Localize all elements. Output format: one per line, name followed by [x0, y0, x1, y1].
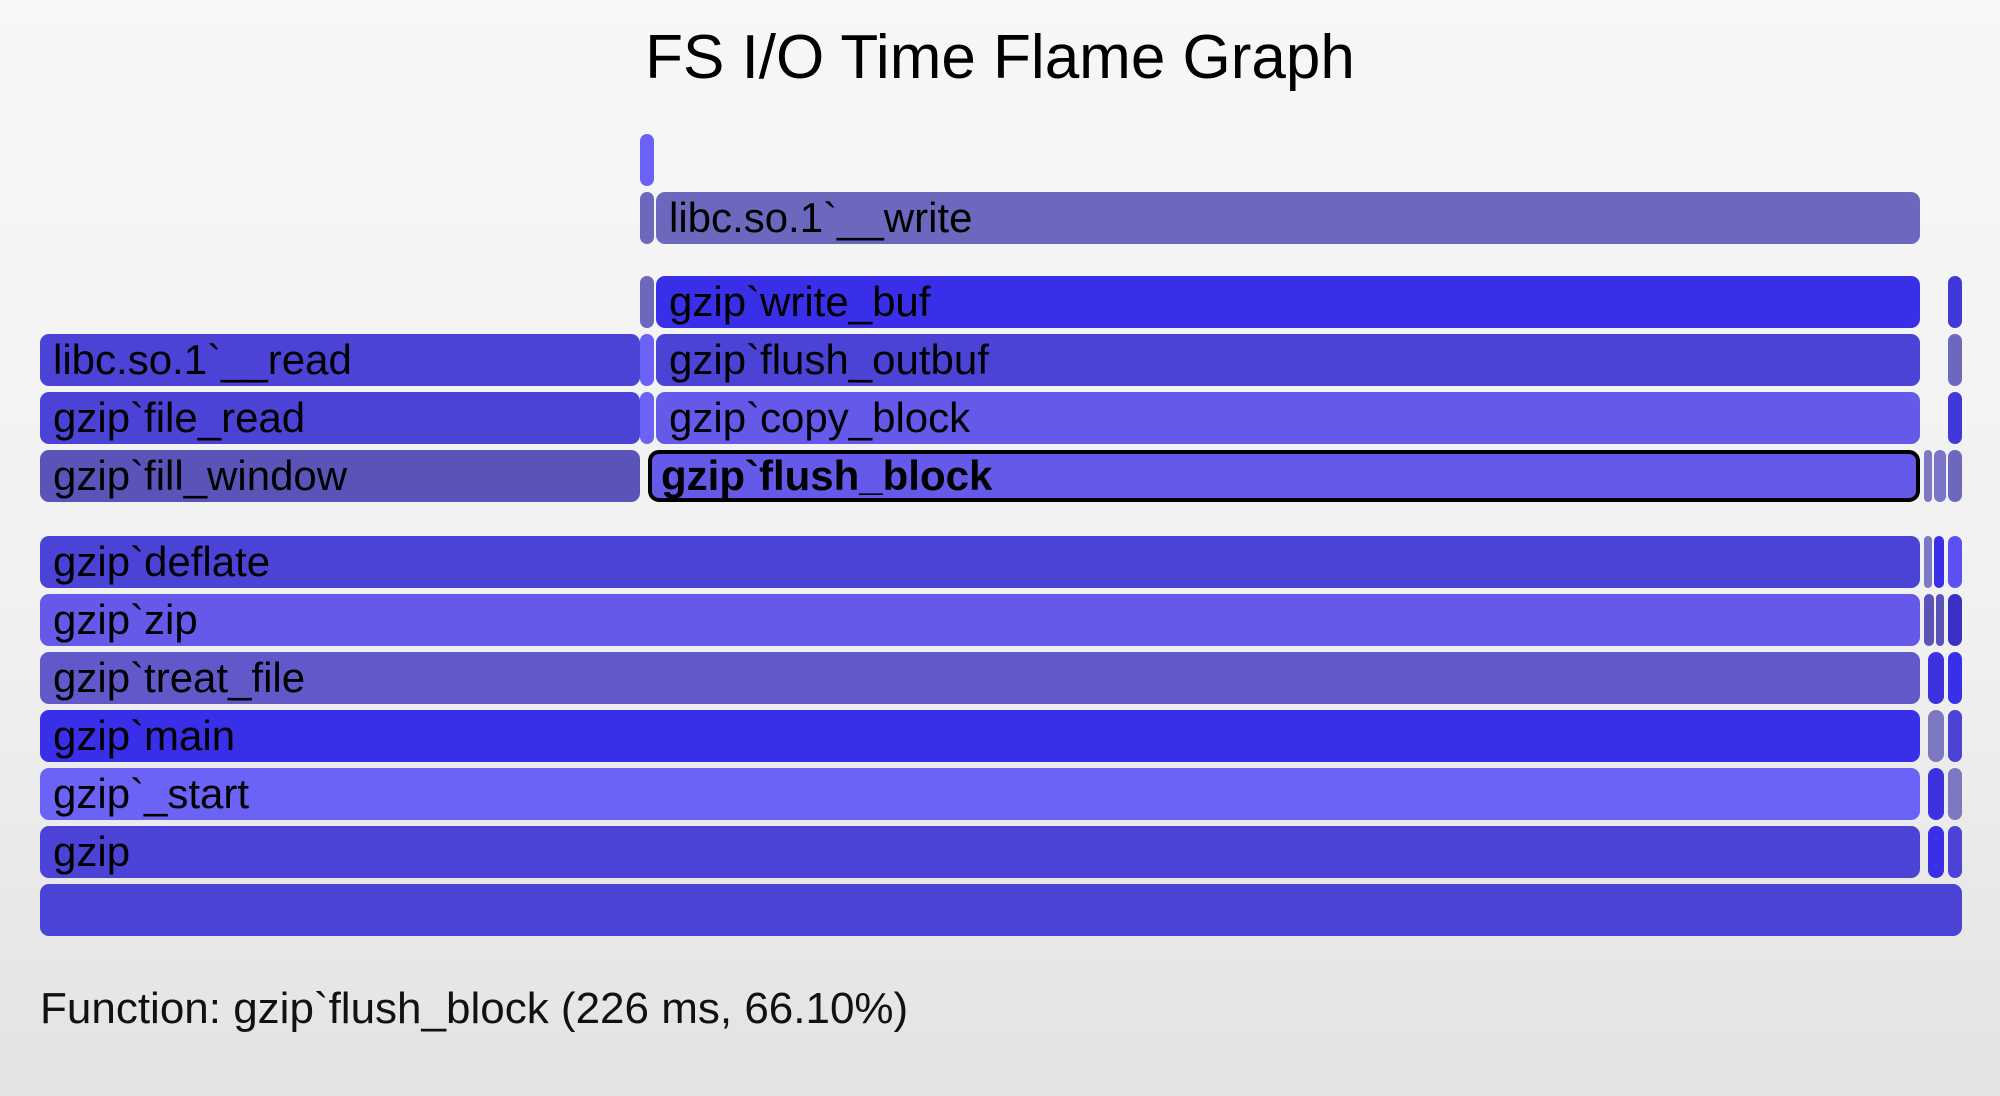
- flame-frame-label: gzip`_start: [40, 772, 249, 816]
- flame-frame-gzip-file-read[interactable]: gzip`file_read: [40, 392, 640, 444]
- flame-frame-gzip-flush-outbuf[interactable]: gzip`flush_outbuf: [656, 334, 1920, 386]
- flame-frame-narrow-18[interactable]: [1924, 536, 1932, 588]
- flame-frame-label: gzip`flush_block: [652, 454, 992, 498]
- flame-frame-label: gzip: [40, 830, 130, 874]
- flame-frame-gzip[interactable]: gzip: [40, 826, 1920, 878]
- flame-graph-canvas[interactable]: gzipgzip`_startgzip`maingzip`treat_fileg…: [0, 0, 2000, 960]
- flame-frame-label: gzip`main: [40, 714, 235, 758]
- flame-frame-label: gzip`flush_outbuf: [656, 338, 989, 382]
- flame-frame-gzip-copy-block[interactable]: gzip`copy_block: [656, 392, 1920, 444]
- flame-frame-gzip-start[interactable]: gzip`_start: [40, 768, 1920, 820]
- flame-frame-narrow-31[interactable]: [640, 334, 654, 386]
- flame-frame-narrow-20[interactable]: [1948, 536, 1962, 588]
- flame-frame-narrow-8[interactable]: [1928, 710, 1944, 762]
- flame-frame-label: gzip`fill_window: [40, 454, 347, 498]
- flame-frame-narrow-0[interactable]: [40, 884, 1962, 936]
- flame-frame-narrow-36[interactable]: [1948, 276, 1962, 328]
- flame-frame-gzip-treat-file[interactable]: gzip`treat_file: [40, 652, 1920, 704]
- flame-frame-label: gzip`write_buf: [656, 280, 930, 324]
- flame-graph-page: FS I/O Time Flame Graph gzipgzip`_startg…: [0, 0, 2000, 1096]
- flame-frame-narrow-12[interactable]: [1948, 652, 1962, 704]
- flame-frame-narrow-33[interactable]: [1948, 334, 1962, 386]
- flame-frame-label: gzip`treat_file: [40, 656, 305, 700]
- flame-frame-narrow-14[interactable]: [1924, 594, 1934, 646]
- flame-frame-label: libc.so.1`__read: [40, 338, 352, 382]
- flame-frame-libc-so-1-write[interactable]: libc.so.1`__write: [656, 192, 1920, 244]
- flame-frame-narrow-6[interactable]: [1948, 768, 1962, 820]
- flame-frame-libc-so-1-read[interactable]: libc.so.1`__read: [40, 334, 640, 386]
- status-bar-function-info: Function: gzip`flush_block (226 ms, 66.1…: [40, 984, 908, 1034]
- flame-frame-narrow-16[interactable]: [1948, 594, 1962, 646]
- flame-frame-label: libc.so.1`__write: [656, 196, 972, 240]
- flame-frame-gzip-deflate[interactable]: gzip`deflate: [40, 536, 1920, 588]
- flame-frame-narrow-19[interactable]: [1934, 536, 1944, 588]
- flame-frame-narrow-27[interactable]: [640, 392, 654, 444]
- flame-frame-gzip-write-buf[interactable]: gzip`write_buf: [656, 276, 1920, 328]
- flame-frame-label: gzip`copy_block: [656, 396, 970, 440]
- flame-frame-gzip-fill-window[interactable]: gzip`fill_window: [40, 450, 640, 502]
- flame-frame-label: gzip`zip: [40, 598, 198, 642]
- flame-frame-narrow-23[interactable]: [1924, 450, 1932, 502]
- flame-frame-narrow-29[interactable]: [1948, 392, 1962, 444]
- flame-frame-gzip-zip[interactable]: gzip`zip: [40, 594, 1920, 646]
- flame-frame-narrow-2[interactable]: [1928, 826, 1944, 878]
- flame-frame-narrow-3[interactable]: [1948, 826, 1962, 878]
- flame-frame-label: gzip`file_read: [40, 396, 305, 440]
- flame-frame-narrow-24[interactable]: [1934, 450, 1946, 502]
- flame-frame-narrow-25[interactable]: [1948, 450, 1962, 502]
- flame-frame-narrow-9[interactable]: [1948, 710, 1962, 762]
- flame-frame-gzip-main[interactable]: gzip`main: [40, 710, 1920, 762]
- flame-frame-gzip-flush-block[interactable]: gzip`flush_block: [648, 450, 1920, 502]
- flame-frame-narrow-11[interactable]: [1928, 652, 1944, 704]
- flame-frame-narrow-37[interactable]: [640, 192, 654, 244]
- flame-frame-label: gzip`deflate: [40, 540, 270, 584]
- flame-frame-narrow-34[interactable]: [640, 276, 654, 328]
- flame-frame-narrow-39[interactable]: [640, 134, 654, 186]
- flame-frame-narrow-5[interactable]: [1928, 768, 1944, 820]
- flame-frame-narrow-15[interactable]: [1936, 594, 1944, 646]
